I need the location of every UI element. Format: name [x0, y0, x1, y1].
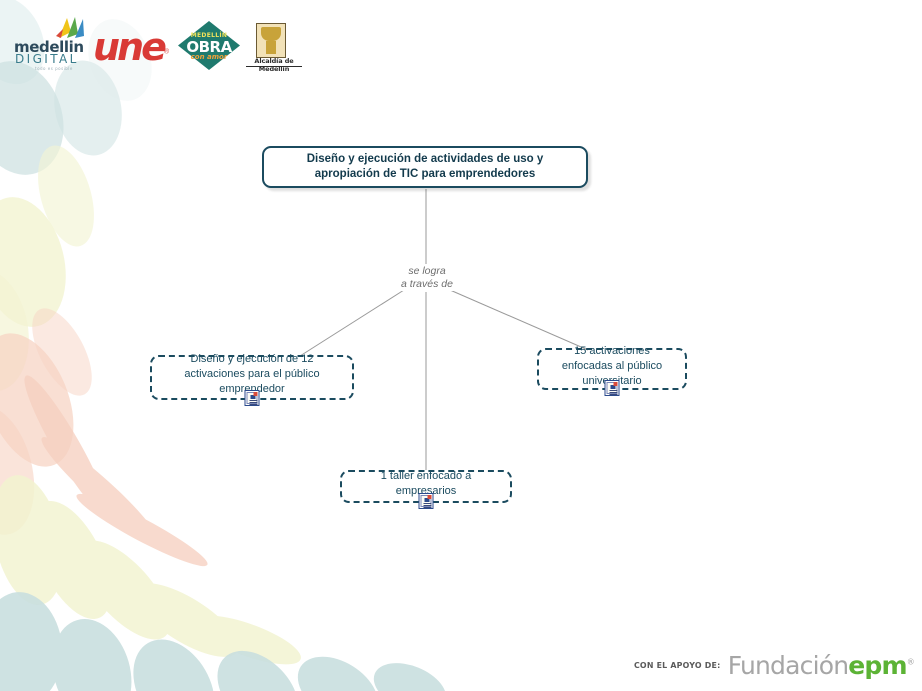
fundacion-epm-primary: Fundación: [728, 651, 849, 680]
document-icon-corner-marker: [614, 382, 618, 386]
mind-map-diagram: Diseño y ejecución de actividades de uso…: [0, 0, 922, 691]
document-icon-line: [610, 394, 618, 395]
document-icon-line: [610, 390, 618, 391]
diagram-edge-label: se logra a través de: [372, 265, 482, 291]
diagram-child-node-right[interactable]: 15 activaciones enfocadas al público uni…: [537, 348, 687, 390]
document-icon-corner-marker: [428, 495, 432, 499]
diagram-root-node[interactable]: Diseño y ejecución de actividades de uso…: [262, 146, 588, 188]
document-icon-corner-marker: [254, 392, 258, 396]
footer-support-prefix: CON EL APOYO DE:: [634, 661, 721, 670]
diagram-connector-lines: [0, 0, 922, 691]
footer-support-block: CON EL APOYO DE: Fundaciónepm®: [636, 651, 914, 680]
diagram-root-label: Diseño y ejecución de actividades de uso…: [274, 152, 576, 182]
diagram-child-node-bottom[interactable]: 1 taller enfocado a empresarios: [340, 470, 512, 503]
document-icon-line: [250, 404, 258, 405]
edge-label-line2: a través de: [372, 278, 482, 291]
document-icon[interactable]: [245, 390, 260, 406]
document-icon-line: [610, 392, 618, 393]
document-icon-line: [424, 507, 432, 508]
diagram-child-node-left[interactable]: Diseño y ejecución de 12 activaciones pa…: [150, 355, 354, 400]
document-icon[interactable]: [605, 380, 620, 396]
document-icon-line: [250, 402, 258, 403]
document-icon-line: [250, 400, 258, 401]
fundacion-epm-registered-mark: ®: [907, 658, 914, 667]
edge-label-line1: se logra: [372, 265, 482, 278]
document-icon-line: [424, 503, 432, 504]
page-root: medellin DIGITAL todo es posible une® ME…: [0, 0, 922, 691]
footer: CON EL APOYO DE: Fundaciónepm®: [0, 645, 922, 691]
fundacion-epm-logo: Fundaciónepm®: [728, 651, 914, 680]
document-icon[interactable]: [419, 493, 434, 509]
fundacion-epm-secondary: epm: [848, 651, 907, 680]
document-icon-line: [424, 505, 432, 506]
